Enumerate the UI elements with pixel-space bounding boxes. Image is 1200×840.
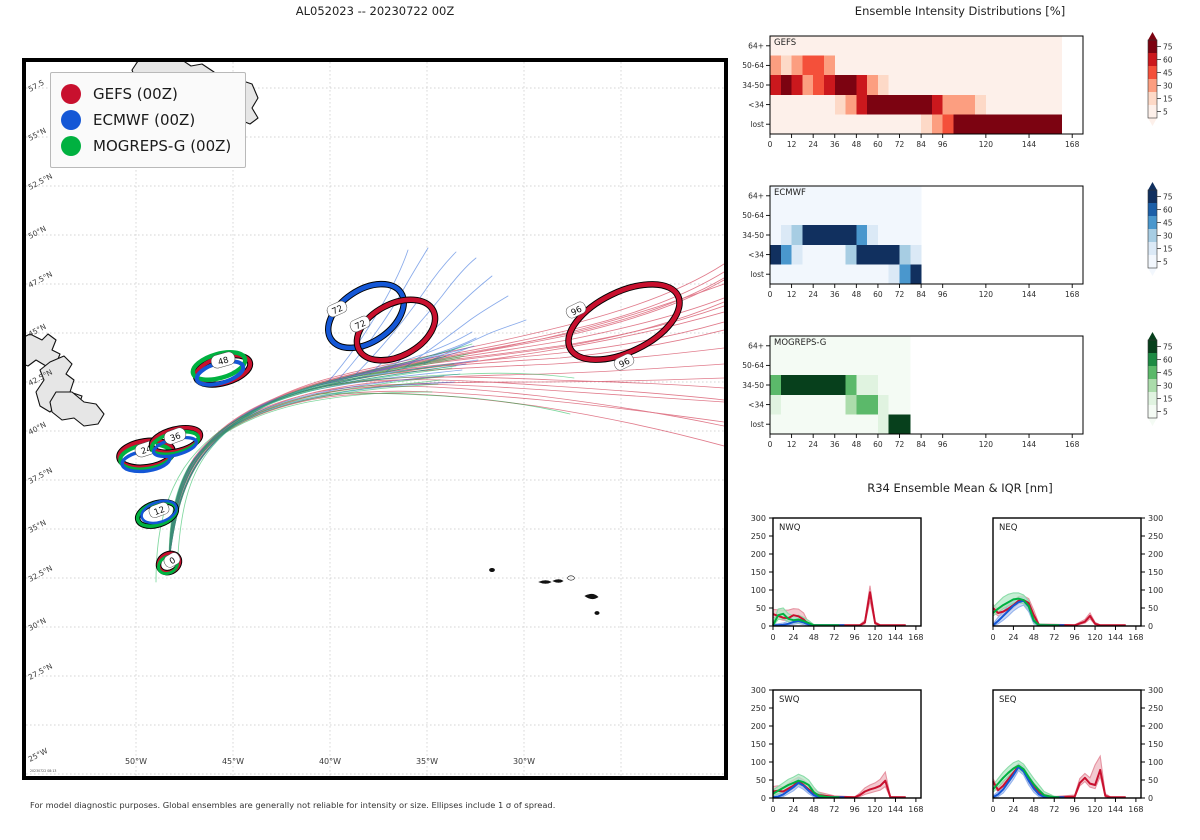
intensity-cell [770,225,781,245]
intensity-cell [802,264,813,284]
lon-label-3: 35°W [416,757,438,766]
intensity-cell [846,114,857,134]
intensity-cell [900,56,911,76]
intensity-cell [878,56,889,76]
intensity-cell [1040,95,1051,115]
r34-y-label: 50 [756,776,766,785]
legend-label-mogreps: MOGREPS-G (00Z) [93,137,231,155]
intensity-x-label: 60 [873,290,883,299]
colorbar-segment [1148,340,1157,353]
intensity-y-label: 34-50 [742,81,764,90]
r34-y-label: 300 [1148,686,1163,695]
r34-y-label: 100 [751,758,766,767]
intensity-cell [1018,75,1029,95]
intensity-cell [986,114,997,134]
intensity-y-label: 64+ [748,42,764,51]
intensity-cell [889,245,900,265]
intensity-cell [792,356,803,376]
intensity-cell [792,245,803,265]
intensity-cell [986,95,997,115]
intensity-cell [932,36,943,56]
intensity-cell [878,95,889,115]
intensity-cell [910,206,921,226]
legend-item-gefs[interactable]: GEFS (00Z) [61,81,231,107]
r34-quadrant-plots[interactable]: NWQ050100150200250300024487296120144168N… [740,500,1200,840]
intensity-cell [943,75,954,95]
colorbar-tick-label: 30 [1163,81,1173,90]
r34-x-label: 144 [888,805,903,814]
intensity-cell [878,75,889,95]
intensity-cell [802,375,813,395]
intensity-cell [835,375,846,395]
intensity-cell [1018,56,1029,76]
intensity-cell [835,186,846,206]
intensity-cell [921,75,932,95]
r34-x-label: 72 [1049,805,1059,814]
intensity-cell [921,114,932,134]
intensity-cell [846,36,857,56]
intensity-x-label: 48 [852,140,862,149]
track-map[interactable]: 0 12 [22,58,728,780]
intensity-cell [813,375,824,395]
intensity-cell [846,75,857,95]
r34-y-label: 300 [751,686,766,695]
intensity-cell [770,56,781,76]
intensity-cell [813,75,824,95]
intensity-cell [802,395,813,415]
intensity-cell [824,75,835,95]
r34-x-label: 120 [1087,633,1102,642]
intensity-cell [781,375,792,395]
intensity-cell [824,95,835,115]
intensity-x-label: 120 [979,140,994,149]
intensity-x-label: 36 [830,290,840,299]
intensity-cell [953,56,964,76]
intensity-cell [921,36,932,56]
intensity-cell [900,114,911,134]
intensity-x-label: 72 [895,440,905,449]
intensity-panel-mogreps-g[interactable]: MOGREPS-G64+50-6434-50<34lost01224364860… [742,332,1173,449]
intensity-cell [910,186,921,206]
intensity-cell [856,206,867,226]
r34-x-label: 168 [908,633,923,642]
intensity-cell [824,264,835,284]
intensity-y-label: <34 [748,400,764,409]
intensity-x-label: 144 [1022,290,1037,299]
intensity-cell [813,356,824,376]
intensity-distributions[interactable]: GEFS64+50-6434-50<34lost0122436486072849… [740,20,1200,480]
intensity-cell [867,75,878,95]
intensity-cell [835,245,846,265]
intensity-panel-ecmwf[interactable]: ECMWF64+50-6434-50<34lost012243648607284… [742,182,1173,299]
colorbar-tick-label: 75 [1163,42,1173,51]
intensity-cell [770,245,781,265]
r34-x-label: 0 [990,805,995,814]
legend-item-mogreps[interactable]: MOGREPS-G (00Z) [61,133,231,159]
r34-y-label: 250 [1148,532,1163,541]
r34-x-label: 48 [1029,805,1039,814]
intensity-cell [997,36,1008,56]
intensity-cell [975,36,986,56]
intensity-cell [813,395,824,415]
intensity-colorbar-mogreps-g: 51530456075 [1148,332,1173,426]
map-title: AL052023 -- 20230722 00Z [22,4,728,18]
intensity-cell [910,56,921,76]
intensity-cell [1040,75,1051,95]
intensity-cell [856,75,867,95]
intensity-cell [792,264,803,284]
intensity-cell [846,356,857,376]
colorbar-tick-label: 15 [1163,394,1173,403]
colorbar-min-arrow [1148,118,1157,126]
r34-y-label: 0 [761,794,766,803]
intensity-cell [1051,95,1062,115]
r34-x-label: 96 [1070,805,1080,814]
r34-y-label: 300 [751,514,766,523]
colorbar-tick-label: 15 [1163,94,1173,103]
intensity-x-label: 144 [1022,140,1037,149]
intensity-cell [910,225,921,245]
r34-x-label: 120 [867,633,882,642]
r34-x-label: 72 [829,805,839,814]
r34-x-label: 24 [788,633,798,642]
intensity-cell [900,264,911,284]
intensity-cell [867,356,878,376]
intensity-cell [781,225,792,245]
intensity-cell [997,114,1008,134]
r34-panel-seq[interactable]: SEQ050100150200250300024487296120144168 [990,686,1163,814]
r34-y-label: 100 [1148,758,1163,767]
r34-x-label: 96 [850,805,860,814]
intensity-cell [781,245,792,265]
intensity-cell [856,114,867,134]
intensity-cell [856,414,867,434]
intensity-panel-label-ecmwf: ECMWF [774,188,806,198]
intensity-cell [900,395,911,415]
colorbar-segment [1148,79,1157,92]
r34-panel-neq[interactable]: NEQ050100150200250300024487296120144168 [990,514,1163,642]
r34-y-label: 300 [1148,514,1163,523]
intensity-y-label: 34-50 [742,381,764,390]
intensity-cell [846,395,857,415]
intensity-cell [900,36,911,56]
intensity-cell [1007,75,1018,95]
intensity-cell [846,186,857,206]
intensity-cell [824,206,835,226]
intensity-x-label: 120 [979,440,994,449]
intensity-cell [910,36,921,56]
intensity-cell [802,245,813,265]
intensity-cell [900,95,911,115]
legend-dot-ecmwf [61,110,81,130]
colorbar-tick-label: 30 [1163,381,1173,390]
r34-x-label: 0 [990,633,995,642]
intensity-y-label: 50-64 [742,361,764,370]
r34-x-label: 168 [1128,633,1143,642]
lon-label-2: 40°W [319,757,341,766]
intensity-cell [867,95,878,115]
colorbar-tick-label: 5 [1163,107,1168,116]
intensity-cell [867,375,878,395]
intensity-cell [781,56,792,76]
r34-y-label: 200 [1148,722,1163,731]
intensity-cell [792,95,803,115]
intensity-panel-label-gefs: GEFS [774,38,796,48]
intensity-cell [802,414,813,434]
intensity-cell [770,375,781,395]
r34-x-label: 24 [788,805,798,814]
intensity-cell [1051,36,1062,56]
intensity-cell [867,414,878,434]
intensity-y-label: 50-64 [742,211,764,220]
intensity-cell [953,95,964,115]
intensity-cell [878,225,889,245]
r34-panel-label-swq: SWQ [779,695,800,705]
intensity-cell [813,114,824,134]
colorbar-tick-label: 45 [1163,218,1173,227]
intensity-cell [867,395,878,415]
intensity-cell [1051,114,1062,134]
intensity-cell [856,264,867,284]
intensity-x-label: 168 [1065,140,1080,149]
intensity-cell [889,414,900,434]
intensity-y-label: <34 [748,100,764,109]
intensity-cell [781,264,792,284]
intensity-cell [900,186,911,206]
colorbar-segment [1148,229,1157,242]
intensity-y-label: <34 [748,250,764,259]
map-timestamp-stamp: 20230722 08:13 [30,769,56,773]
colorbar-segment [1148,242,1157,255]
intensity-cell [813,36,824,56]
r34-y-label: 250 [751,532,766,541]
intensity-cell [1029,95,1040,115]
intensity-cell [856,336,867,356]
intensity-cell [781,114,792,134]
r34-x-label: 120 [1087,805,1102,814]
colorbar-tick-label: 75 [1163,192,1173,201]
intensity-cell [1007,95,1018,115]
intensity-cell [878,114,889,134]
intensity-cell [900,245,911,265]
intensity-y-label: lost [750,420,764,429]
intensity-x-label: 84 [916,440,926,449]
colorbar-segment [1148,92,1157,105]
intensity-cell [921,56,932,76]
intensity-cell [813,186,824,206]
intensity-cell [813,264,824,284]
intensity-cell [813,56,824,76]
intensity-cell [856,56,867,76]
intensity-cell [910,245,921,265]
intensity-x-label: 24 [808,290,818,299]
intensity-cell [770,264,781,284]
colorbar-segment [1148,40,1157,53]
intensity-y-label: 64+ [748,342,764,351]
intensity-cell [770,95,781,115]
r34-y-label: 100 [751,586,766,595]
r34-panel-label-neq: NEQ [999,523,1018,533]
intensity-cell [867,264,878,284]
intensity-cell [846,225,857,245]
colorbar-segment [1148,66,1157,79]
intensity-cell [932,56,943,76]
intensity-cell [878,375,889,395]
intensity-x-label: 96 [938,140,948,149]
intensity-cell [824,114,835,134]
r34-panel-label-nwq: NWQ [779,523,801,533]
intensity-cell [1018,36,1029,56]
intensity-cell [889,336,900,356]
intensity-cell [792,414,803,434]
intensity-cell [802,225,813,245]
r34-x-label: 48 [809,805,819,814]
intensity-cell [1051,75,1062,95]
r34-x-label: 72 [1049,633,1059,642]
intensity-cell [856,186,867,206]
intensity-cell [856,36,867,56]
r34-y-label: 0 [761,622,766,631]
intensity-cell [997,95,1008,115]
intensity-cell [846,56,857,76]
intensity-x-label: 12 [787,290,797,299]
intensity-cell [835,206,846,226]
intensity-section-title: Ensemble Intensity Distributions [%] [740,4,1180,18]
intensity-cell [932,114,943,134]
intensity-cell [824,186,835,206]
intensity-x-label: 120 [979,290,994,299]
r34-y-label: 250 [751,704,766,713]
legend-label-gefs: GEFS (00Z) [93,85,178,103]
intensity-cell [835,95,846,115]
intensity-cell [824,356,835,376]
intensity-cell [770,395,781,415]
intensity-cell [878,245,889,265]
colorbar-tick-label: 5 [1163,407,1168,416]
intensity-cell [943,36,954,56]
colorbar-segment [1148,379,1157,392]
intensity-cell [889,75,900,95]
intensity-cell [889,375,900,395]
colorbar-max-arrow [1148,32,1157,40]
intensity-cell [867,56,878,76]
colorbar-segment [1148,203,1157,216]
intensity-cell [856,356,867,376]
r34-panel-nwq[interactable]: NWQ050100150200250300024487296120144168 [751,514,924,642]
intensity-cell [824,56,835,76]
r34-x-label: 0 [770,805,775,814]
intensity-cell [802,95,813,115]
lon-label-4: 30°W [513,757,535,766]
r34-x-label: 48 [809,633,819,642]
intensity-x-label: 96 [938,440,948,449]
colorbar-tick-label: 45 [1163,368,1173,377]
intensity-cell [964,114,975,134]
intensity-x-label: 72 [895,140,905,149]
map-canvas: 0 12 [26,62,724,776]
intensity-cell [835,264,846,284]
map-legend[interactable]: GEFS (00Z) ECMWF (00Z) MOGREPS-G (00Z) [50,72,246,168]
intensity-panel-gefs[interactable]: GEFS64+50-6434-50<34lost0122436486072849… [742,32,1173,149]
colorbar-max-arrow [1148,182,1157,190]
r34-y-label: 0 [1148,622,1153,631]
r34-y-label: 200 [751,722,766,731]
intensity-x-label: 60 [873,140,883,149]
intensity-cell [813,225,824,245]
intensity-cell [889,206,900,226]
intensity-cell [781,395,792,415]
intensity-x-label: 48 [852,290,862,299]
colorbar-segment [1148,105,1157,118]
intensity-x-label: 36 [830,440,840,449]
intensity-cell [867,206,878,226]
intensity-x-label: 144 [1022,440,1037,449]
intensity-cell [824,414,835,434]
intensity-cell [846,375,857,395]
r34-panel-swq[interactable]: SWQ050100150200250300024487296120144168 [751,686,924,814]
intensity-cell [953,75,964,95]
r34-x-label: 144 [1108,805,1123,814]
colorbar-segment [1148,53,1157,66]
intensity-cell [867,245,878,265]
intensity-cell [846,414,857,434]
intensity-cell [835,36,846,56]
intensity-y-label: lost [750,120,764,129]
intensity-cell [1018,114,1029,134]
intensity-cell [867,336,878,356]
intensity-cell [889,356,900,376]
intensity-cell [835,336,846,356]
r34-y-label: 50 [756,604,766,613]
intensity-cell [835,56,846,76]
intensity-cell [856,395,867,415]
intensity-cell [792,56,803,76]
intensity-cell [802,114,813,134]
intensity-x-label: 72 [895,290,905,299]
intensity-cell [846,206,857,226]
colorbar-segment [1148,392,1157,405]
r34-section-title: R34 Ensemble Mean & IQR [nm] [740,481,1180,495]
intensity-cell [835,225,846,245]
intensity-cell [781,356,792,376]
colorbar-tick-label: 45 [1163,68,1173,77]
intensity-cell [986,75,997,95]
intensity-x-label: 48 [852,440,862,449]
intensity-cell [867,186,878,206]
r34-y-label: 250 [1148,704,1163,713]
intensity-cell [846,245,857,265]
intensity-cell [943,95,954,115]
colorbar-segment [1148,405,1157,418]
intensity-cell [813,206,824,226]
intensity-cell [770,114,781,134]
colorbar-segment [1148,353,1157,366]
intensity-cell [1007,36,1018,56]
intensity-cell [878,206,889,226]
intensity-cell [824,375,835,395]
intensity-cell [943,114,954,134]
intensity-cell [1007,114,1018,134]
intensity-cell [964,95,975,115]
legend-item-ecmwf[interactable]: ECMWF (00Z) [61,107,231,133]
intensity-x-label: 0 [768,290,773,299]
colorbar-tick-label: 15 [1163,244,1173,253]
intensity-cell [964,75,975,95]
r34-x-label: 24 [1008,805,1018,814]
r34-y-label: 0 [1148,794,1153,803]
r34-y-label: 100 [1148,586,1163,595]
colorbar-tick-label: 75 [1163,342,1173,351]
